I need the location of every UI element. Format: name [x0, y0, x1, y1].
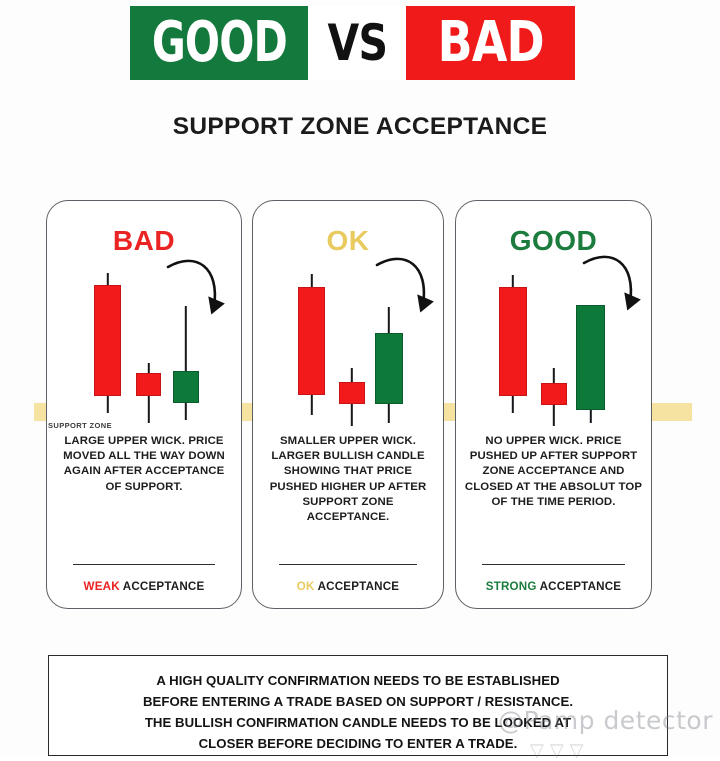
candle-bearish-2	[339, 263, 365, 423]
banner-vs-label: VS	[327, 18, 387, 68]
candle-body-bullish	[173, 371, 199, 403]
candle-body-bullish	[375, 333, 403, 404]
candle-bullish-confirmation	[173, 263, 199, 423]
card-good-divider	[482, 564, 625, 565]
candle-bullish-confirmation	[375, 263, 403, 423]
card-good-verdict-suffix: ACCEPTANCE	[540, 580, 622, 593]
footer-line-1: A HIGH QUALITY CONFIRMATION NEEDS TO BE …	[63, 670, 653, 691]
candle-bearish-1	[298, 263, 325, 423]
card-ok-description: SMALLER UPPER WICK. LARGER BULLISH CANDL…	[261, 434, 435, 525]
card-bad-divider	[73, 564, 215, 565]
card-good-description: NO UPPER WICK. PRICE PUSHED UP AFTER SUP…	[464, 434, 643, 510]
candle-bearish-1	[94, 263, 121, 423]
card-ok-chart	[253, 263, 443, 423]
card-bad-heading: BAD	[47, 225, 241, 257]
banner-bad-label: BAD	[437, 15, 543, 71]
header-banner: GOOD VS BAD	[130, 6, 575, 80]
card-good-heading: GOOD	[456, 225, 651, 257]
card-bad-verdict: WEAK ACCEPTANCE	[47, 580, 241, 593]
card-good-chart	[456, 263, 651, 423]
watermark-glyph: ▽▽▽	[530, 740, 590, 761]
card-bad-verdict-strength: WEAK	[84, 580, 120, 593]
banner-segment-vs: VS	[308, 6, 406, 80]
card-good-verdict: STRONG ACCEPTANCE	[456, 580, 651, 593]
card-bad-description: LARGE UPPER WICK. PRICE MOVED ALL THE WA…	[55, 434, 233, 495]
candle-body-bearish	[339, 382, 365, 404]
candle-body-bearish	[94, 285, 121, 396]
card-ok-verdict-suffix: ACCEPTANCE	[318, 580, 400, 593]
candle-bearish-2	[136, 263, 161, 423]
card-ok: OK SMALLER UPPER WICK. LARGER BULLISH CA…	[252, 200, 444, 609]
candle-body-bearish	[541, 383, 567, 405]
page-title: SUPPORT ZONE ACCEPTANCE	[0, 113, 720, 141]
candle-bullish-confirmation	[576, 263, 605, 423]
support-zone-label: SUPPORT ZONE	[48, 421, 112, 430]
banner-segment-good: GOOD	[130, 6, 308, 80]
card-ok-verdict-strength: OK	[297, 580, 315, 593]
candle-body-bearish	[298, 287, 325, 395]
card-ok-verdict: OK ACCEPTANCE	[253, 580, 443, 593]
candle-bearish-2	[541, 263, 567, 423]
candle-body-bearish	[136, 373, 161, 396]
card-good: GOOD NO UPPER WICK. PRICE PUSHED UP AFTE…	[455, 200, 652, 609]
card-bad: BAD LARGE UPPER WICK. PRICE MOVED ALL TH…	[46, 200, 242, 609]
candle-bearish-1	[499, 263, 527, 423]
banner-segment-bad: BAD	[406, 6, 575, 80]
candle-body-bearish	[499, 287, 527, 396]
card-good-verdict-strength: STRONG	[486, 580, 537, 593]
card-ok-heading: OK	[253, 225, 443, 257]
card-bad-chart	[47, 263, 241, 423]
watermark-text: @Pamp detector	[498, 706, 713, 735]
banner-good-label: GOOD	[151, 15, 286, 71]
card-ok-divider	[279, 564, 417, 565]
card-bad-verdict-suffix: ACCEPTANCE	[123, 580, 205, 593]
candle-body-bullish	[576, 305, 605, 410]
